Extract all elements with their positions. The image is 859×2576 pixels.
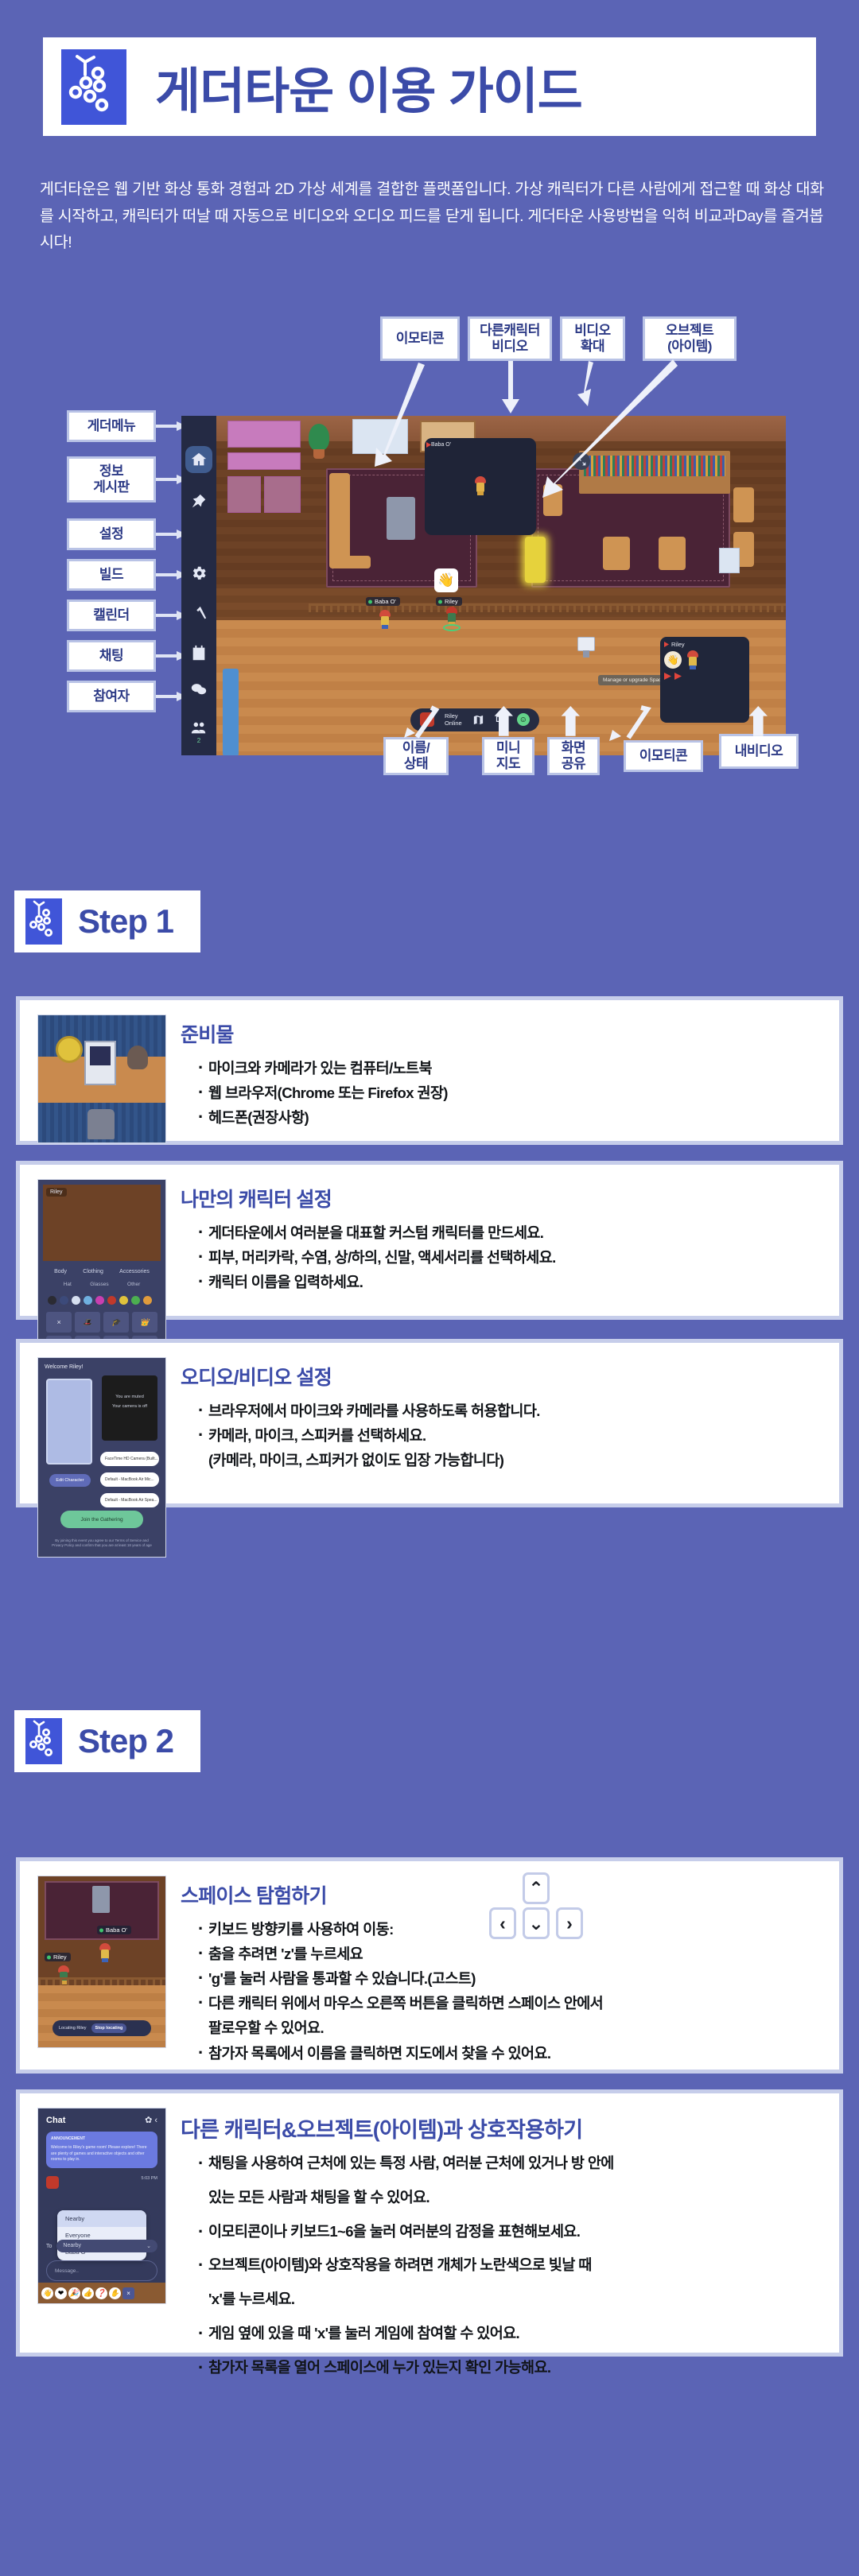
chat-header: Chat ✿ ‹ (38, 2109, 165, 2132)
card-interaction: Chat ✿ ‹ ANNOUNCEMENT Welcome to Riley's… (16, 2089, 843, 2357)
emote-bar[interactable]: 👋 ❤ 🎉 👍 ❓ ✋ × (38, 2283, 165, 2303)
home-icon[interactable] (190, 451, 208, 468)
chat-message: 5:03 PM (38, 2168, 165, 2189)
pink-counter (227, 421, 301, 448)
callout-emoticon-bottom: 이모티콘 (624, 740, 703, 772)
card-title: 준비물 (181, 1019, 822, 1048)
gather-menu-sidebar[interactable]: 2 (181, 416, 216, 755)
thumb-join-button[interactable]: Join the Gathering (60, 1511, 143, 1528)
emote-2[interactable]: ❤ (55, 2287, 67, 2299)
participant-count: 2 (197, 737, 200, 744)
participants-icon[interactable] (190, 720, 208, 737)
emote-clear[interactable]: × (122, 2287, 134, 2299)
list-item: 헤드폰(권장사항) (198, 1107, 822, 1129)
list-item: 게임 옆에 있을 때 'x'를 눌러 게임에 참여할 수 있어요. (198, 2323, 822, 2345)
nametag-baba: Baba O' (366, 597, 400, 606)
thumb-legal-text: By joining this event you agree to our T… (49, 1538, 154, 1550)
key-up[interactable]: ⌃ (523, 1872, 550, 1904)
self-avatar (686, 650, 699, 669)
pink-panel-b (264, 476, 301, 513)
list-item: 웹 브라우저(Chrome 또는 Firefox 권장) (198, 1082, 822, 1104)
av-setup-screenshot: Welcome Riley! You are muted Your camera… (37, 1357, 166, 1558)
thumb-mic-select[interactable]: Default - MacBook Air Mic... (100, 1472, 159, 1487)
emoji-icon[interactable]: ☺ (517, 713, 530, 726)
card-explore-space: Baba O' Riley Locating Riley Stop locati… (16, 1857, 843, 2074)
card-character-setup: Riley Body Clothing Accessories Hat Glas… (16, 1161, 843, 1320)
chair-r3 (659, 537, 686, 570)
character-riley (445, 607, 458, 626)
chair-r2 (603, 537, 630, 570)
recipient-row[interactable]: To Nearby⌄ (46, 2240, 157, 2252)
page-header: 게더타운 이용 가이드 (43, 37, 816, 136)
self-video-controls[interactable] (664, 673, 745, 680)
callout-emoticon-top: 이모티콘 (380, 316, 460, 361)
list-item: 다른 캐릭터 위에서 마우스 오른쪽 버튼을 클릭하면 스페이스 안에서 (198, 1992, 822, 2015)
emote-1[interactable]: 👋 (41, 2287, 53, 2299)
callout-settings: 설정 (67, 518, 156, 550)
pink-panel-a (227, 476, 261, 513)
list-item: 있는 모든 사람과 채팅을 할 수 있어요. (198, 2187, 822, 2209)
thumb-name-baba: Baba O' (97, 1926, 131, 1934)
thumb-camera-select[interactable]: FaceTime HD Camera (Built... (100, 1452, 159, 1466)
list-item: 춤을 추려면 'z'를 누르세요 (198, 1943, 822, 1965)
sofa-left (329, 473, 350, 567)
emote-4[interactable]: 👍 (82, 2287, 94, 2299)
thumb-character-name: Riley (46, 1188, 67, 1197)
interactive-object-highlight[interactable] (525, 537, 546, 583)
list-item: 키보드 방향키를 사용하여 이동: (198, 1918, 822, 1941)
avatar (46, 2176, 59, 2189)
self-emote: 👋 (664, 651, 682, 669)
minimap-icon[interactable] (472, 714, 484, 726)
list-item: (카메라, 마이크, 스피커가 없이도 입장 가능합니다) (198, 1449, 822, 1472)
character-baba (379, 610, 391, 629)
pin-icon[interactable] (190, 493, 208, 510)
list-item: 이모티콘이나 키보드1~6을 눌러 여러분의 감정을 표현해보세요. (198, 2221, 822, 2243)
tv-screen (387, 497, 415, 540)
arrow-emoticon-bottom (604, 706, 652, 743)
arrow-minimap (492, 706, 514, 739)
toolbar-status: Online (445, 720, 462, 727)
bullet-list: 채팅을 사용하여 근처에 있는 특정 사람, 여러분 근처에 있거나 방 안에 … (181, 2153, 822, 2379)
potted-plant (309, 424, 329, 459)
thumb-welcome: Welcome Riley! (45, 1364, 159, 1370)
annotated-gather-screenshot: Baba O' 👋 Baba O' Riley Manage or upgrad… (0, 310, 859, 827)
list-item: 오브젝트(아이템)와 상호작용을 하려면 개체가 노란색으로 빛날 때 (198, 2255, 822, 2276)
toolbar-name: Riley (445, 712, 462, 720)
hammer-icon[interactable] (190, 605, 208, 623)
callout-info-board: 정보 게시판 (67, 456, 156, 502)
announcement-text: Welcome to Riley's game room! Please exp… (51, 2145, 147, 2163)
arrow-my-video (746, 706, 768, 739)
card-av-setup: Welcome Riley! You are muted Your camera… (16, 1339, 843, 1507)
toolbar-name-status[interactable]: Riley Online (445, 712, 462, 727)
bullet-list: 게더타운에서 여러분을 대표할 커스텀 캐릭터를 만드세요. 피부, 머리카락,… (181, 1222, 822, 1294)
callout-video-expand: 비디오 확대 (560, 316, 625, 361)
stop-locating-button[interactable]: Stop locating (91, 2023, 127, 2033)
list-item: 참가자 목록에서 이름을 클릭하면 지도에서 찾을 수 있어요. (198, 2043, 822, 2065)
bullet-list: 브라우저에서 마이크와 카메라를 사용하도록 허용합니다. 카메라, 마이크, … (181, 1400, 822, 1472)
recipient-dropdown[interactable]: Nearby Everyone Baba O' (57, 2210, 146, 2260)
arrow-other-video (498, 361, 522, 415)
step-2-label: Step 2 (78, 1722, 173, 1760)
gather-grape-logo-icon (25, 1718, 62, 1764)
explore-space-screenshot: Baba O' Riley Locating Riley Stop locati… (37, 1876, 166, 2048)
card-preparation: 준비물 마이크와 카메라가 있는 컴퓨터/노트북 웹 브라우저(Chrome 또… (16, 996, 843, 1145)
thumb-char-a (99, 1943, 111, 1962)
chat-bubble-icon[interactable] (190, 681, 208, 698)
thumb-color-swatches (48, 1296, 156, 1305)
thumb-speaker-select[interactable]: Default - MacBook Air Spea... (100, 1493, 159, 1507)
self-video-panel[interactable]: Riley 👋 (660, 637, 749, 723)
arrow-object-item (530, 361, 689, 504)
chat-panel-screenshot: Chat ✿ ‹ ANNOUNCEMENT Welcome to Riley's… (37, 2108, 166, 2304)
thumb-muted-notice: You are muted Your camera is off (102, 1375, 157, 1441)
card-title: 오디오/비디오 설정 (181, 1362, 822, 1391)
manage-space-icon[interactable] (577, 637, 595, 658)
locating-text: Locating Riley (59, 2026, 87, 2031)
list-item: 참가자 목록을 열어 스페이스에 누가 있는지 확인 가능해요. (198, 2357, 822, 2379)
callout-name-status: 이름/ 상태 (383, 737, 449, 775)
to-select[interactable]: Nearby⌄ (56, 2240, 157, 2252)
callout-build: 빌드 (67, 559, 156, 591)
calendar-icon[interactable] (190, 645, 208, 662)
gear-icon[interactable] (190, 564, 208, 582)
video-avatar (474, 476, 487, 495)
office-desk-screenshot (37, 1014, 166, 1143)
bullet-list: 마이크와 카메라가 있는 컴퓨터/노트북 웹 브라우저(Chrome 또는 Fi… (181, 1057, 822, 1129)
bullet-list: 키보드 방향키를 사용하여 이동: 춤을 추려면 'z'를 누르세요 'g'를 … (181, 1918, 822, 2065)
callout-chat: 채팅 (67, 640, 156, 672)
list-item: 마이크와 카메라가 있는 컴퓨터/노트북 (198, 1057, 822, 1080)
chat-controls[interactable]: ✿ ‹ (145, 2115, 157, 2125)
thumb-tabs: Body Clothing Accessories (46, 1269, 157, 1274)
thumb-edit-character-button[interactable]: Edit Character (49, 1474, 91, 1487)
pink-cabinet (227, 452, 301, 470)
message-input[interactable]: Message.. (46, 2260, 157, 2281)
callout-gather-menu: 게더메뉴 (67, 410, 156, 442)
emote-5[interactable]: ❓ (95, 2287, 107, 2299)
callout-screenshare: 화면 공유 (547, 737, 600, 775)
list-item: 채팅을 사용하여 근처에 있는 특정 사람, 여러분 근처에 있거나 방 안에 (198, 2153, 822, 2174)
chat-title: Chat (46, 2116, 65, 2125)
gather-grape-logo-icon (61, 49, 126, 125)
announcement-tag: ANNOUNCEMENT (51, 2136, 153, 2143)
callout-participants: 참여자 (67, 681, 156, 712)
arrow-emoticon-top (356, 361, 444, 480)
chat-timestamp: 5:03 PM (142, 2176, 157, 2189)
step-1-badge: Step 1 (14, 890, 200, 952)
chair-r4 (733, 487, 754, 522)
stair-column (223, 669, 239, 755)
announcement-bubble: ANNOUNCEMENT Welcome to Riley's game roo… (46, 2132, 157, 2168)
thumb-locating-bar[interactable]: Locating Riley Stop locating (52, 2020, 151, 2036)
list-item: 'x'를 누르세요. (198, 2289, 822, 2310)
list-item: 카메라, 마이크, 스피커를 선택하세요. (198, 1425, 822, 1447)
emote-6[interactable]: ✋ (109, 2287, 121, 2299)
list-item: 피부, 머리카락, 수염, 상/하의, 신말, 액세서리를 선택하세요. (198, 1247, 822, 1269)
list-item: 브라우저에서 마이크와 카메라를 사용하도록 허용합니다. (198, 1400, 822, 1422)
page-title: 게더타운 이용 가이드 (155, 51, 582, 122)
arrow-screenshare (558, 706, 581, 739)
arrow-name-status (404, 708, 439, 739)
self-video-name: Riley (664, 641, 745, 648)
character-editor-screenshot: Riley Body Clothing Accessories Hat Glas… (37, 1179, 166, 1364)
intro-paragraph: 게더타운은 웹 기반 화상 통화 경험과 2D 가상 세계를 결합한 플랫폼입니… (40, 177, 827, 257)
dropdown-option-nearby[interactable]: Nearby (57, 2210, 146, 2227)
thumb-subtabs: Hat Glasses Other (54, 1282, 150, 1287)
list-item: 팔로우할 수 있어요. (198, 2017, 822, 2039)
chevron-down-icon: ⌄ (146, 2243, 151, 2249)
callout-minimap: 미니 지도 (482, 737, 534, 775)
list-item: 캐릭터 이름을 입력하세요. (198, 1271, 822, 1294)
callout-other-video: 다른캐릭터 비디오 (468, 316, 552, 361)
emote-3[interactable]: 🎉 (68, 2287, 80, 2299)
poster-right (719, 548, 740, 573)
gather-grape-logo-icon (25, 898, 62, 945)
game-world-canvas: Baba O' 👋 Baba O' Riley Manage or upgrad… (181, 416, 786, 755)
nametag-riley: Riley (436, 597, 462, 606)
list-item: 게더타운에서 여러분을 대표할 커스텀 캐릭터를 만드세요. (198, 1222, 822, 1244)
speaking-ring (443, 624, 461, 631)
sofa-left-arm (329, 556, 371, 568)
callout-calendar: 캘린더 (67, 599, 156, 631)
card-title: 다른 캐릭터&오브젝트(아이템)과 상호작용하기 (181, 2112, 822, 2143)
card-title: 나만의 캐릭터 설정 (181, 1184, 822, 1212)
list-item: 'g'를 눌러 사람을 통과할 수 있습니다.(고스트) (198, 1968, 822, 1990)
emote-bubble: 👋 (434, 568, 458, 592)
to-label: To (46, 2244, 52, 2249)
step-2-badge: Step 2 (14, 1710, 200, 1772)
step-1-label: Step 1 (78, 902, 173, 941)
thumb-name-riley: Riley (45, 1953, 71, 1961)
manage-space-tooltip: Manage or upgrade Space (598, 675, 669, 685)
callout-object-item: 오브젝트 (아이템) (643, 316, 737, 361)
